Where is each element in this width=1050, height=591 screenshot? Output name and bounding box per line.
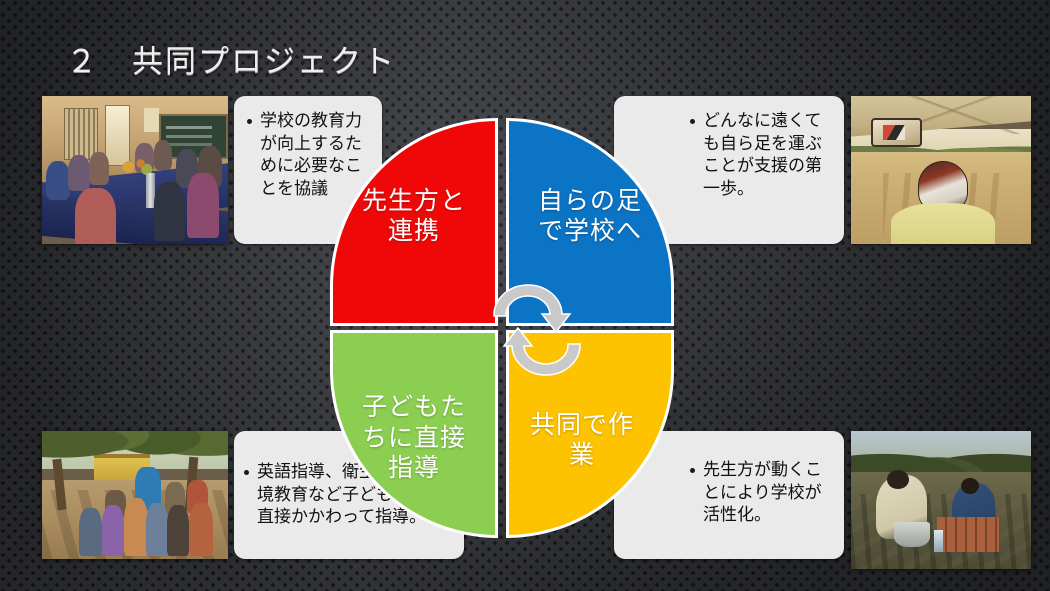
quadrant-teachers[interactable]: 先生方と連携: [330, 118, 498, 326]
cycle-diagram: 先生方と連携 自らの足で学校へ 子どもたちに直接指導 共同で作業: [330, 118, 674, 538]
photo-children: [42, 431, 228, 559]
quadrant-label: 先生方と連携: [362, 186, 466, 247]
photo-meeting: [42, 96, 228, 244]
page-title: ２ 共同プロジェクト: [66, 36, 396, 81]
photo-motorbike-ride: [851, 96, 1031, 244]
callout-text: 先生方が動くことにより学校が活性化。: [688, 459, 834, 527]
quadrant-label: 共同で作業: [530, 410, 634, 471]
quadrant-visit[interactable]: 自らの足で学校へ: [506, 118, 674, 326]
quadrant-label: 自らの足で学校へ: [538, 186, 642, 247]
callout-text: どんなに遠くても自ら足を運ぶことが支援の第一歩。: [688, 110, 834, 200]
quadrant-work[interactable]: 共同で作業: [506, 330, 674, 538]
quadrant-label: 子どもたちに直接指導: [362, 392, 466, 484]
slide-canvas: ２ 共同プロジェクト: [0, 0, 1050, 591]
photo-joint-work: [851, 431, 1031, 569]
quadrant-teach[interactable]: 子どもたちに直接指導: [330, 330, 498, 538]
